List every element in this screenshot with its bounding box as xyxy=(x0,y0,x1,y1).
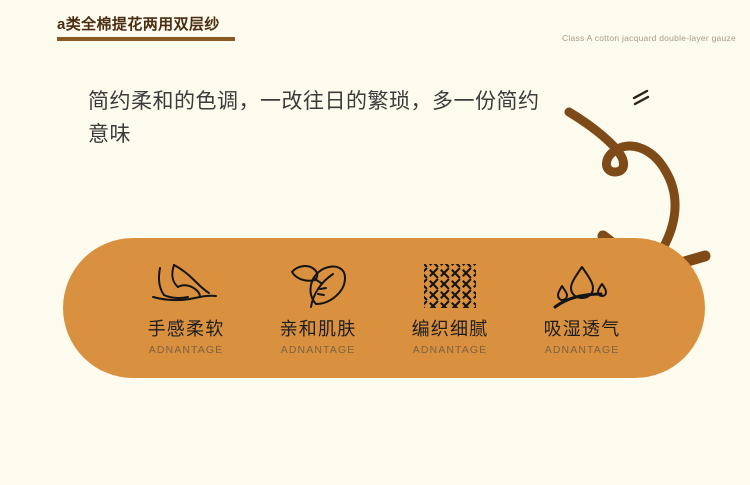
feature-item-fine-weave[interactable]: 编织细腻 ADNANTAGE xyxy=(385,260,515,357)
feature-item-soft-touch[interactable]: 手感柔软 ADNANTAGE xyxy=(121,260,251,357)
feature-sublabel: ADNANTAGE xyxy=(545,344,619,356)
feature-item-skin-friendly[interactable]: 亲和肌肤 ADNANTAGE xyxy=(253,260,383,357)
page-title: a类全棉提花两用双层纱 xyxy=(57,16,235,35)
title-underline xyxy=(57,37,235,41)
feature-label: 编织细腻 xyxy=(412,320,489,340)
feature-label: 手感柔软 xyxy=(148,320,225,340)
feature-sublabel: ADNANTAGE xyxy=(149,344,223,356)
feature-label: 亲和肌肤 xyxy=(280,320,357,340)
woven-mesh-icon xyxy=(422,260,478,310)
leaf-icon xyxy=(285,260,351,310)
feature-sublabel: ADNANTAGE xyxy=(413,344,487,356)
feature-item-breathable[interactable]: 吸湿透气 ADNANTAGE xyxy=(517,260,647,357)
feature-label: 吸湿透气 xyxy=(544,320,621,340)
feature-list: 手感柔软 ADNANTAGE 亲和肌肤 ADNANTAGE xyxy=(63,238,705,378)
header-title-block: a类全棉提花两用双层纱 xyxy=(57,16,235,41)
header-subtitle-english: Class A cotton jacquard double-layer gau… xyxy=(562,33,736,43)
hand-touch-fabric-icon xyxy=(150,260,222,310)
feature-sublabel: ADNANTAGE xyxy=(281,344,355,356)
water-droplet-icon xyxy=(549,260,615,310)
promo-banner: a类全棉提花两用双层纱 Class A cotton jacquard doub… xyxy=(0,0,750,485)
headline-text: 简约柔和的色调，一改往日的繁琐，多一份简约意味 xyxy=(88,86,558,151)
